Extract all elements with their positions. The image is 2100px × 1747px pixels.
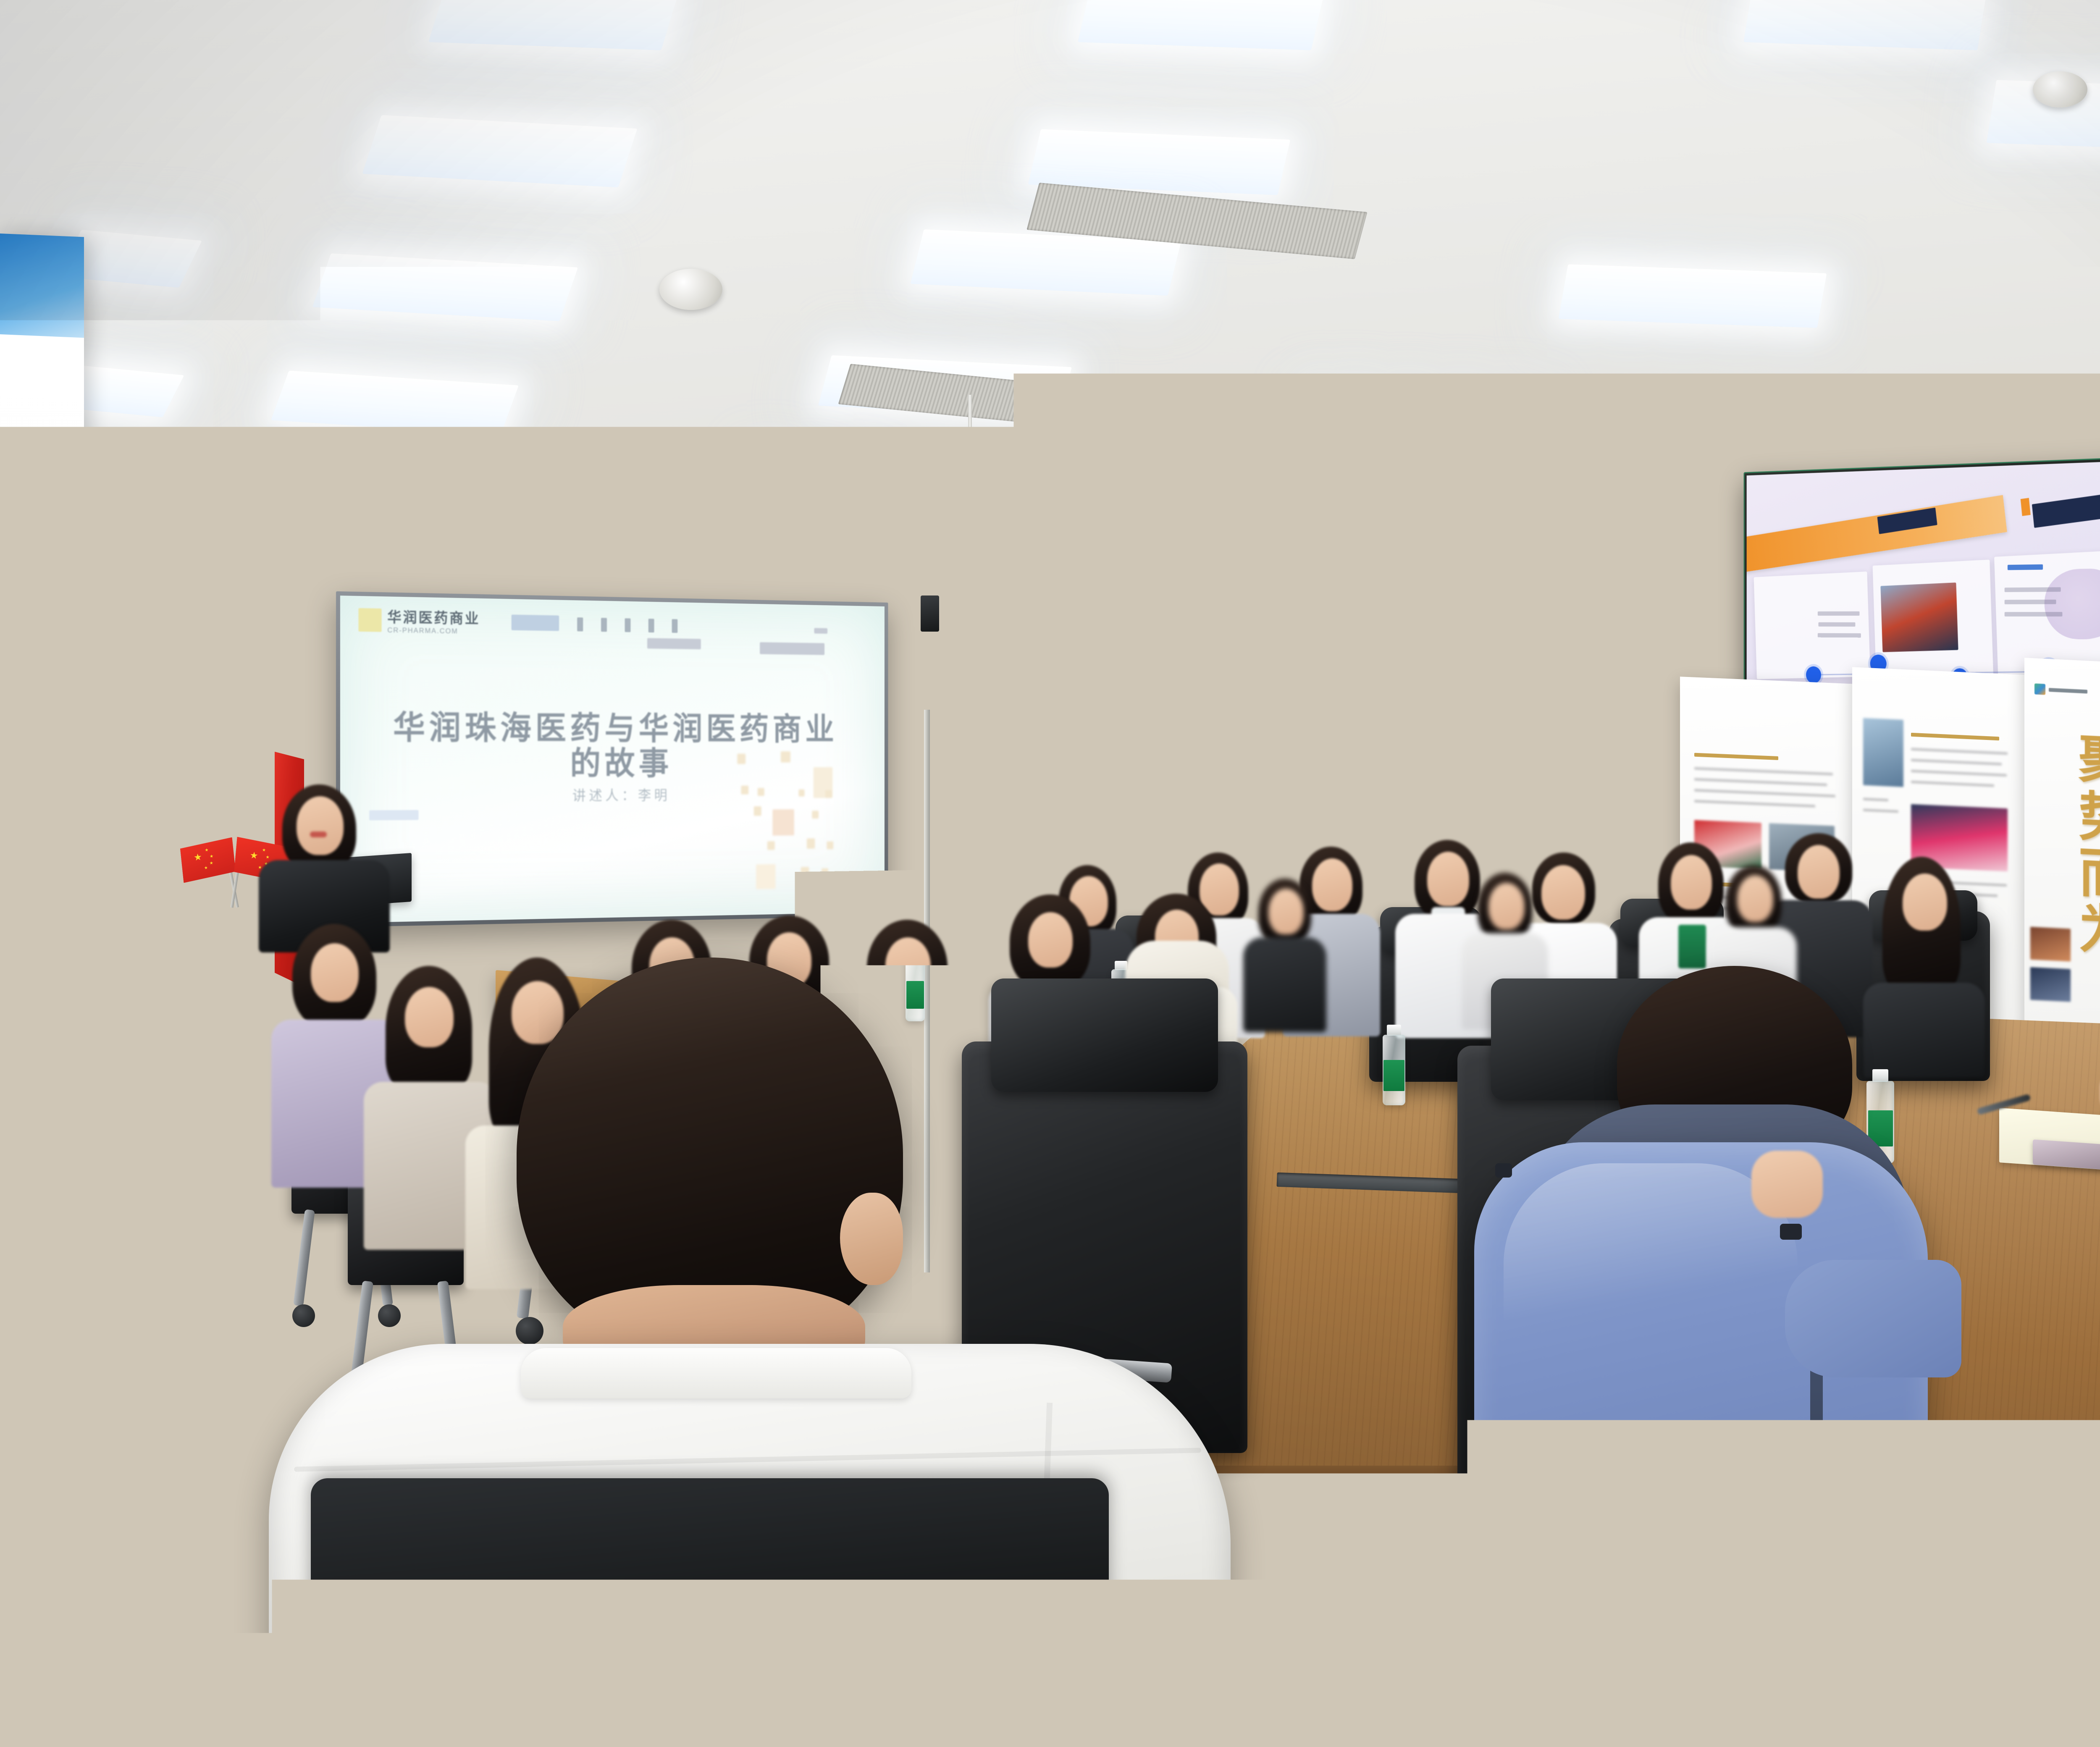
ceiling-led-panel [247,471,476,530]
slide-chip [814,628,828,634]
conference-room-photo: 华润医药商业 CR-PHARMA.COM 华润珠海医药与华润医药商业 的故事 讲… [0,0,2100,1747]
exhibit-calligraphy: 聚势而为 [2062,731,2100,960]
tv-caption-line [2005,612,2063,616]
ceiling-led-panel [362,115,638,187]
ceiling-led-panel [1743,0,1986,50]
slide-logo: 华润医药商业 CR-PHARMA.COM [358,605,480,636]
jacket-sleeve [1785,1260,1961,1377]
tv-badge-right [2032,493,2100,528]
foreground-chair-back[interactable] [311,1478,1109,1747]
ceiling-led-panel [271,370,519,435]
water-bottle[interactable] [1380,1025,1408,1105]
tv-caption-line [1818,622,1855,627]
hood-toggle [1780,1224,1802,1240]
jacket-zipper [1810,1344,1823,1663]
door-header-line [1212,733,1476,734]
hand [1751,1151,1823,1218]
smoke-detector [659,269,722,310]
tv-caption-line [2005,600,2056,604]
exit-sign: 安全出口 [1251,679,1313,710]
smoke-detector [1537,424,1577,450]
ear [840,1193,903,1285]
lanyard [1678,925,1706,968]
slide-nav-item [577,617,583,631]
slide-nav-item [625,618,631,632]
ceiling-led-panel [428,0,680,50]
evacuation-notice-header [1362,824,1416,837]
ceiling-led-panel [1298,399,1541,456]
tv-badge-accent [2021,498,2031,516]
attendee-back-row [1243,879,1327,1030]
slide-logo-mark [358,608,381,632]
tv-caption-line [2005,587,2061,592]
projection-screen[interactable]: 华润医药商业 CR-PHARMA.COM 华润珠海医药与华润医药商业 的故事 讲… [336,591,888,927]
hood-toggle [1495,1163,1512,1178]
tv-photo [1880,582,1958,652]
podium-logo-mark [204,958,228,980]
tv-caption-line [1818,611,1860,616]
ceiling-led-panel [1078,0,1325,50]
banner-calligraphy: 势 [127,732,200,788]
projector-mount-pole [968,395,972,483]
slide-nav-item [601,618,607,632]
executive-chair-foreground[interactable] [2092,1209,2100,1747]
tv-caption-line [2008,564,2043,570]
slide-nav [512,615,678,633]
tv-caption-line [1818,633,1861,638]
ceiling-led-panel [1558,264,1827,328]
projected-slide: 华润医药商业 CR-PHARMA.COM 华润珠海医药与华润医药商业 的故事 讲… [340,595,885,923]
slide-decoration-dots [733,751,859,895]
foreground-woman-blue-jacket [1432,966,1961,1747]
slide-nav-item [672,619,678,633]
tv-timeline-node [1806,666,1821,683]
left-rollup-banner [0,233,84,1623]
exit-sign-label: 安全出口 [1258,687,1305,703]
slide-logo-subtext: CR-PHARMA.COM [387,626,480,636]
slide-chip [647,638,701,649]
slide-chip [760,642,824,655]
slide-nav-item [648,619,654,632]
screen-bracket [921,595,939,632]
slide-logo-text: 华润医药商业 [387,606,480,627]
smoke-detector [2033,71,2087,108]
slide-nav-item [512,615,559,631]
shirt-collar [521,1348,911,1398]
podium-side-panel [151,910,183,1144]
presenter [244,784,403,944]
ceiling-led-panel [312,253,578,321]
